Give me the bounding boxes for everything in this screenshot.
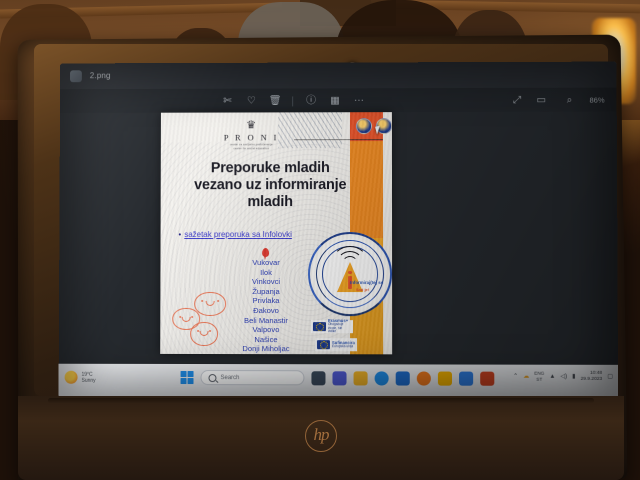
- crop-rotate-icon[interactable]: ✄: [221, 95, 235, 108]
- photos-icon[interactable]: [459, 371, 473, 385]
- eu-logo-subtitle: Obogaćuje živote, širi vidike: [328, 322, 343, 334]
- slide-title-line-3: mladih: [173, 194, 368, 211]
- fullscreen-icon[interactable]: ⤢: [510, 94, 524, 107]
- eu-funding-logo: Sufinancira Europska unija: [315, 338, 357, 351]
- google-drive-icon[interactable]: [438, 371, 452, 385]
- clock-date: 29.9.2023: [581, 376, 603, 382]
- eu-flag-icon: [313, 322, 326, 331]
- laptop-hinge: [48, 398, 594, 403]
- slide-title: Preporuke mladih vezano uz informiranje …: [173, 160, 368, 211]
- slide-title-line-2: vezano uz informiranje: [173, 177, 368, 194]
- info-icon[interactable]: ⓘ: [304, 94, 318, 107]
- eu-logo-text: Erasmus+ Obogaćuje živote, širi vidike: [328, 319, 351, 334]
- sun-icon: [65, 371, 78, 384]
- slide-header-line: [294, 139, 350, 140]
- app-title-bar: 2.png: [60, 62, 617, 90]
- language-primary: ENG: [534, 371, 544, 376]
- taskbar-center: Search: [181, 370, 495, 386]
- powerpoint-icon[interactable]: [480, 371, 494, 385]
- badge-label-primary: Informiraj(te) se: [350, 280, 383, 285]
- broadcast-tower-icon: Informiraj(te) se Sad je!: [308, 232, 392, 316]
- eu-flag-icon: [317, 340, 330, 349]
- speaker-icon[interactable]: ◁): [560, 373, 567, 380]
- search-input[interactable]: Search: [200, 370, 304, 385]
- slide-title-line-1: Preporuke mladih: [173, 160, 368, 177]
- task-view-icon[interactable]: [311, 371, 325, 385]
- eu-logo-subtitle: Europska unija: [332, 344, 353, 348]
- toolbar-separator: [292, 96, 293, 106]
- system-tray: ⌃ ☁ ENG ST ▲ ◁) ▮ 10:48 29.9.2023: [513, 371, 613, 383]
- language-indicator[interactable]: ENG ST: [534, 371, 544, 382]
- weather-condition: Sunny: [82, 377, 96, 383]
- show-hidden-icons-chevron[interactable]: ⌃: [513, 373, 518, 380]
- speech-bubble: [190, 322, 218, 346]
- notification-icon[interactable]: ▢: [607, 373, 613, 380]
- map-pin-icon: [262, 248, 269, 257]
- proni-name: P R O N I: [210, 132, 292, 142]
- filmstrip-icon[interactable]: ▭: [534, 94, 548, 107]
- speech-bubbles-icon: [164, 292, 234, 350]
- proni-subtitle-1: centar za socijalno podučavanje: [210, 143, 292, 147]
- microsoft-edge-icon[interactable]: [375, 371, 389, 385]
- favorite-heart-icon[interactable]: ♡: [244, 95, 258, 108]
- delete-trash-icon[interactable]: 🗑: [268, 94, 282, 107]
- partner-logo-icon: [356, 118, 372, 134]
- battery-icon[interactable]: ▮: [572, 373, 575, 380]
- crown-icon: ♛: [211, 120, 293, 131]
- windows-start-icon[interactable]: [181, 371, 194, 384]
- photo-scene: 2.png ✄ ♡ 🗑 ⓘ ▦ ⋯ ⤢ ▭ ⌕ 86%: [0, 0, 640, 480]
- badge-label-secondary: Sad je!: [356, 287, 369, 292]
- hp-logo: hp: [314, 425, 329, 445]
- bullet-marker: •: [178, 230, 181, 239]
- zoom-level-label: 86%: [589, 96, 604, 105]
- search-icon: [208, 374, 216, 382]
- search-placeholder: Search: [220, 375, 239, 381]
- proni-logo: ♛ P R O N I centar za socijalno podučava…: [210, 120, 292, 151]
- photos-toolbar: ✄ ♡ 🗑 ⓘ ▦ ⋯ ⤢ ▭ ⌕ 86%: [60, 88, 617, 113]
- laptop-screen: 2.png ✄ ♡ 🗑 ⓘ ▦ ⋯ ⤢ ▭ ⌕ 86%: [59, 62, 619, 400]
- weather-text: 19°C Sunny: [82, 371, 96, 383]
- erasmus-logo: Erasmus+ Obogaćuje živote, širi vidike: [311, 320, 353, 333]
- magnifier-icon[interactable]: ⌕: [562, 94, 576, 107]
- language-secondary: ST: [534, 376, 544, 381]
- laptop: 2.png ✄ ♡ 🗑 ⓘ ▦ ⋯ ⤢ ▭ ⌕ 86%: [18, 36, 624, 480]
- slide-rail-white-edge: [383, 112, 392, 354]
- file-explorer-icon[interactable]: [354, 371, 368, 385]
- photos-app-window: 2.png ✄ ♡ 🗑 ⓘ ▦ ⋯ ⤢ ▭ ⌕ 86%: [59, 62, 618, 365]
- weather-widget[interactable]: 19°C Sunny: [65, 371, 96, 384]
- eu-logo-text: Sufinancira Europska unija: [332, 341, 355, 349]
- slide-image[interactable]: ♛ P R O N I centar za socijalno podučava…: [160, 112, 392, 354]
- app-icon: [70, 70, 82, 82]
- slide-hyperlink[interactable]: sažetak preporuka sa Infolovki: [184, 230, 292, 239]
- firefox-icon[interactable]: [417, 371, 431, 385]
- teams-chat-icon[interactable]: [332, 371, 346, 385]
- more-options-icon[interactable]: ⋯: [352, 94, 366, 107]
- clock[interactable]: 10:48 29.9.2023: [581, 371, 603, 382]
- laptop-base: hp: [18, 396, 624, 480]
- speech-bubble: [194, 292, 226, 316]
- taskbar-apps: [311, 371, 494, 385]
- cloud-icon[interactable]: ☁: [523, 373, 529, 380]
- gallery-grid-icon[interactable]: ▦: [328, 94, 342, 107]
- wifi-icon[interactable]: ▲: [549, 373, 555, 379]
- file-name-label: 2.png: [90, 71, 111, 80]
- proni-subtitle-2: center for social education: [210, 148, 292, 152]
- slide-rail-line: [350, 139, 383, 140]
- screen-bezel: 2.png ✄ ♡ 🗑 ⓘ ▦ ⋯ ⤢ ▭ ⌕ 86%: [34, 44, 608, 396]
- windows-taskbar: 19°C Sunny Search: [59, 364, 619, 399]
- microsoft-store-icon[interactable]: [396, 371, 410, 385]
